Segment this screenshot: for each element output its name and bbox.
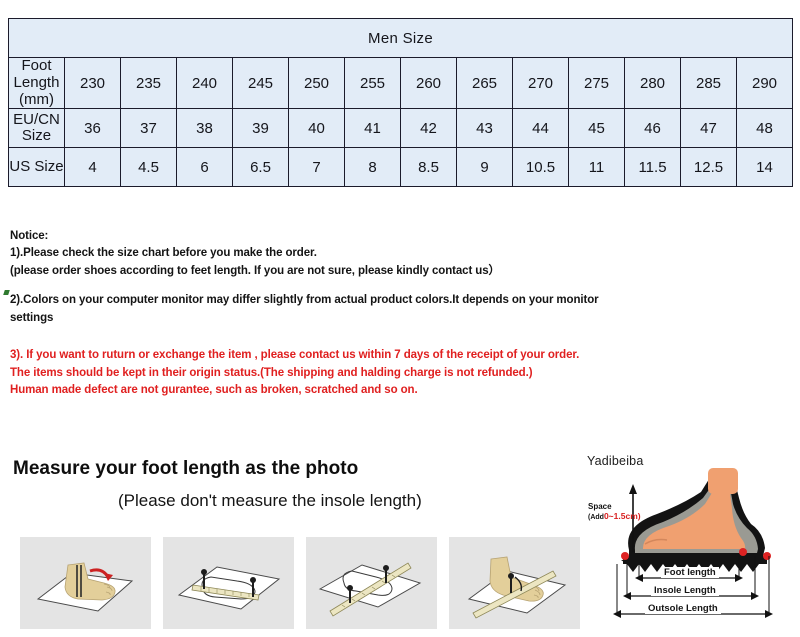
cell-eu-cn-2: 38 (177, 109, 233, 148)
cell-foot-length-9: 275 (569, 58, 625, 109)
cell-eu-cn-11: 47 (681, 109, 737, 148)
cell-foot-length-5: 255 (345, 58, 401, 109)
cell-foot-length-12: 290 (737, 58, 793, 109)
cell-us-2: 6 (177, 148, 233, 187)
notice-item-1-line-1: 1).Please check the size chart before yo… (10, 245, 795, 262)
cell-us-1: 4.5 (121, 148, 177, 187)
cell-foot-length-11: 285 (681, 58, 737, 109)
cell-foot-length-1: 235 (121, 58, 177, 109)
cell-eu-cn-8: 44 (513, 109, 569, 148)
cell-eu-cn-4: 40 (289, 109, 345, 148)
cell-foot-length-6: 260 (401, 58, 457, 109)
thumbnail-foot-on-paper (20, 537, 151, 629)
foot-on-paper-icon (20, 537, 151, 629)
thumbnail-traced-outline-with-ruler (163, 537, 294, 629)
notice-item-2: 2).Colors on your computer monitor may d… (10, 292, 795, 327)
notice-item-3: 3). If you want to ruturn or exchange th… (10, 347, 795, 399)
cell-us-7: 9 (457, 148, 513, 187)
cell-foot-length-7: 265 (457, 58, 513, 109)
cell-foot-length-0: 230 (65, 58, 121, 109)
cell-us-11: 12.5 (681, 148, 737, 187)
notice-item-3-line-1: 3). If you want to ruturn or exchange th… (10, 347, 795, 364)
table-row: EU/CN Size 36 37 38 39 40 41 42 43 44 45… (9, 109, 793, 148)
shoe-measurement-diagram: Yadibeiba Space (Add0~1.5cm) (583, 452, 797, 632)
cell-eu-cn-12: 48 (737, 109, 793, 148)
row-header-label: Foot Length (14, 57, 60, 91)
row-header-unit: (mm) (9, 92, 64, 109)
dimension-label-foot-length: Foot length (661, 567, 719, 578)
cell-us-12: 14 (737, 148, 793, 187)
cell-foot-length-2: 240 (177, 58, 233, 109)
size-chart-table: Men Size Foot Length (mm) 230 235 240 24… (8, 18, 793, 187)
thumbnail-foot-with-ruler (449, 537, 580, 629)
notice-item-2-line-1: 2).Colors on your computer monitor may d… (10, 292, 795, 309)
measure-instructions-title: Measure your foot length as the photo (13, 458, 358, 480)
notice-heading: Notice: (10, 228, 795, 245)
space-allowance-title: Space (588, 502, 641, 511)
measure-steps-gallery (20, 537, 580, 629)
cell-foot-length-4: 250 (289, 58, 345, 109)
thumbnail-measuring-outline-with-ruler (306, 537, 437, 629)
dimension-label-outsole-length: Outsole Length (645, 603, 721, 614)
cell-eu-cn-7: 43 (457, 109, 513, 148)
space-allowance-label: Space (Add0~1.5cm) (588, 502, 641, 523)
size-chart-table-body: Men Size Foot Length (mm) 230 235 240 24… (9, 19, 793, 187)
space-allowance-value: 0~1.5cm) (604, 511, 641, 521)
notice-item-1-line-2: (please order shoes according to feet le… (10, 263, 795, 280)
cell-foot-length-10: 280 (625, 58, 681, 109)
cell-eu-cn-0: 36 (65, 109, 121, 148)
traced-outline-ruler-icon (163, 537, 294, 629)
table-row: US Size 4 4.5 6 6.5 7 8 8.5 9 10.5 11 11… (9, 148, 793, 187)
cell-eu-cn-3: 39 (233, 109, 289, 148)
notice-item-2-line-2: settings (10, 310, 795, 327)
cell-eu-cn-6: 42 (401, 109, 457, 148)
row-header-label: US Size (9, 158, 63, 175)
cell-us-0: 4 (65, 148, 121, 187)
measure-instructions-subtitle: (Please don't measure the insole length) (118, 491, 422, 511)
row-header-eu-cn-size: EU/CN Size (9, 109, 65, 148)
cell-us-3: 6.5 (233, 148, 289, 187)
row-header-us-size: US Size (9, 148, 65, 187)
space-allowance-prefix: (Add (588, 514, 604, 521)
cell-us-5: 8 (345, 148, 401, 187)
green-marker-icon (3, 290, 10, 295)
cell-foot-length-3: 245 (233, 58, 289, 109)
size-chart-table-container: Men Size Foot Length (mm) 230 235 240 24… (8, 18, 793, 187)
notice-item-3-line-2: The items should be kept in their origin… (10, 365, 795, 382)
cell-eu-cn-9: 45 (569, 109, 625, 148)
measuring-outline-ruler-icon (306, 537, 437, 629)
foot-with-ruler-icon (449, 537, 580, 629)
row-header-label: EU/CN Size (13, 111, 60, 145)
cell-eu-cn-10: 46 (625, 109, 681, 148)
brand-name: Yadibeiba (587, 454, 643, 468)
cell-us-4: 7 (289, 148, 345, 187)
table-title-row: Men Size (9, 19, 793, 58)
cell-us-8: 10.5 (513, 148, 569, 187)
cell-eu-cn-5: 41 (345, 109, 401, 148)
cell-us-9: 11 (569, 148, 625, 187)
cell-foot-length-8: 270 (513, 58, 569, 109)
cell-us-6: 8.5 (401, 148, 457, 187)
table-row: Foot Length (mm) 230 235 240 245 250 255… (9, 58, 793, 109)
notice-block: Notice: 1).Please check the size chart b… (10, 228, 795, 400)
page-title: Men Size (9, 19, 793, 58)
cell-eu-cn-1: 37 (121, 109, 177, 148)
cell-us-10: 11.5 (625, 148, 681, 187)
row-header-foot-length: Foot Length (mm) (9, 58, 65, 109)
dimension-label-insole-length: Insole Length (651, 585, 719, 596)
notice-item-3-line-3: Human made defect are not gurantee, such… (10, 382, 795, 399)
